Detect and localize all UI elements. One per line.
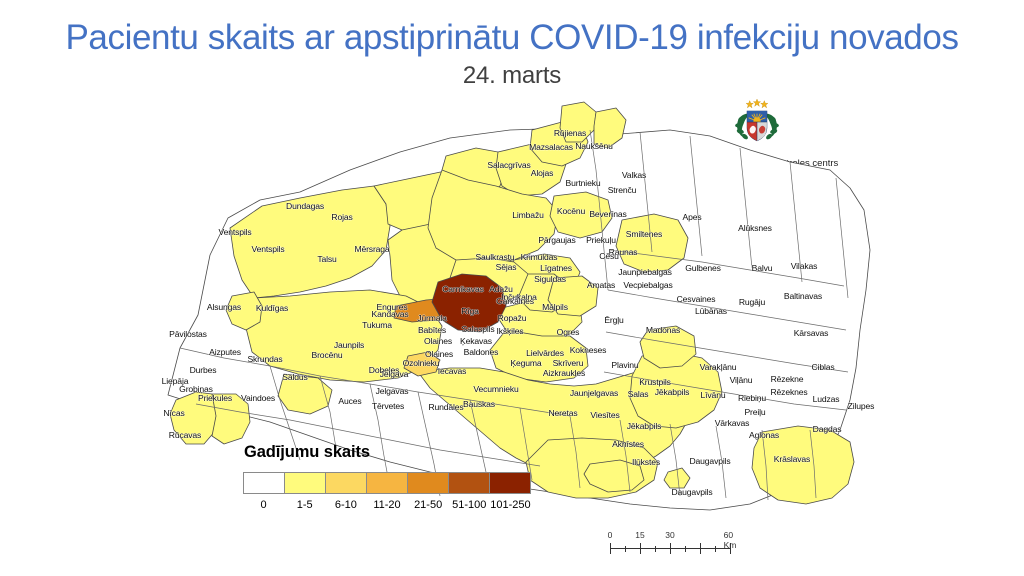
map-label: Smiltenes bbox=[626, 229, 662, 239]
map-label: Ērgļu bbox=[604, 315, 623, 325]
map-label: Jēkabpils bbox=[655, 387, 689, 397]
map-label: Baldones bbox=[464, 347, 499, 357]
map-label: Rīga bbox=[461, 306, 479, 316]
map-label: Ropažu bbox=[498, 313, 527, 323]
map-label: Iecavas bbox=[438, 366, 467, 376]
page-subtitle: 24. marts bbox=[0, 62, 1024, 90]
map-label: Tukuma bbox=[362, 320, 392, 330]
map-label: Cesvaines bbox=[677, 294, 716, 304]
legend: Gadījumu skaits 01-56-1011-2021-5051-100… bbox=[243, 443, 531, 511]
map-label: Viesītes bbox=[590, 410, 619, 420]
map-label: Ogres bbox=[557, 327, 580, 337]
map-label: Vecpiebalgas bbox=[623, 280, 672, 290]
map-label: Neretas bbox=[548, 408, 577, 418]
map-label: Zilupes bbox=[848, 401, 875, 411]
map-label: Vārkavas bbox=[715, 418, 750, 428]
map-label: Ludzas bbox=[813, 394, 840, 404]
scale-bar-numbers: 0153060 Km bbox=[610, 530, 740, 542]
map-label: Dagdas bbox=[813, 424, 842, 434]
map-label: Priekuļu bbox=[586, 235, 616, 245]
map-label: Rundāles bbox=[428, 402, 463, 412]
map-label: Bauskas bbox=[463, 399, 495, 409]
map-label: Skrundas bbox=[247, 354, 282, 364]
map-label: Aizkraukles bbox=[543, 368, 585, 378]
scale-bar-ticks bbox=[610, 543, 740, 554]
map-label: Brocēnu bbox=[312, 350, 343, 360]
map-label: Mērsraga bbox=[354, 244, 389, 254]
map-label: Ilūkstes bbox=[632, 457, 660, 467]
slide-root: Pacientu skaits ar apstiprinātu COVID-19… bbox=[0, 0, 1024, 576]
map-label: Jelgava bbox=[380, 369, 409, 379]
map-label: Durbes bbox=[190, 365, 217, 375]
map-label: Jaunpiebalgas bbox=[618, 267, 671, 277]
map-label: Talsu bbox=[317, 254, 336, 264]
map-label: Kokneses bbox=[570, 345, 607, 355]
map-label: Garkalnes bbox=[496, 296, 534, 306]
map-label: Carnikavas bbox=[442, 284, 484, 294]
scale-bar: 0153060 Km bbox=[610, 530, 740, 554]
legend-swatches bbox=[243, 472, 531, 494]
map-label: Burtnieku bbox=[566, 178, 601, 188]
map-label: Tērvetes bbox=[372, 401, 404, 411]
map-label: Skrīveru bbox=[553, 358, 584, 368]
map-label: Vecumnieku bbox=[473, 384, 518, 394]
map-label: Daugavpils bbox=[671, 487, 712, 497]
map-label: Ventspils bbox=[218, 227, 251, 237]
map-label: Līvānu bbox=[701, 390, 726, 400]
map-label: Mazsalacas bbox=[529, 142, 573, 152]
map-label: Rugāju bbox=[739, 297, 765, 307]
map-label: Ikšķiles bbox=[497, 326, 524, 336]
scale-tick-0: 0 bbox=[608, 530, 613, 540]
map-label: Gulbenes bbox=[685, 263, 721, 273]
map-label: Pāvilostas bbox=[169, 329, 207, 339]
map-label: Lūbānas bbox=[695, 306, 727, 316]
map-label: Jelgavas bbox=[376, 386, 409, 396]
map-label: Valkas bbox=[622, 170, 646, 180]
map-label: Baltinavas bbox=[784, 291, 822, 301]
map-label: Engures bbox=[377, 302, 408, 312]
map-label: Vilakas bbox=[791, 261, 818, 271]
legend-swatch-11-20 bbox=[367, 473, 408, 493]
map-label: Plavinu bbox=[611, 360, 638, 370]
legend-swatch-51-100 bbox=[449, 473, 490, 493]
scale-tick-1: 15 bbox=[635, 530, 644, 540]
map-label: Daugavpils bbox=[689, 456, 730, 466]
map-label: Ventspils bbox=[251, 244, 284, 254]
map-label: Saulkrastu bbox=[475, 252, 514, 262]
map-label: Krustpils bbox=[639, 377, 671, 387]
map-label: Amatas bbox=[587, 280, 615, 290]
legend-swatch-101-250 bbox=[490, 473, 530, 493]
map-label: Alsungas bbox=[207, 302, 241, 312]
map-label: Kuldīgas bbox=[256, 303, 288, 313]
map-label: Kocēnu bbox=[557, 206, 585, 216]
map-label: Balvu bbox=[752, 263, 773, 273]
map-label: Jaunpils bbox=[334, 340, 364, 350]
map-label: Ciblas bbox=[812, 362, 835, 372]
map-label: Babītes bbox=[418, 325, 446, 335]
map-label: Jūrmala bbox=[417, 313, 447, 323]
map-label: Mālpils bbox=[542, 302, 568, 312]
map-label: Naukšēnu bbox=[575, 141, 613, 151]
map-label: Strenču bbox=[608, 185, 637, 195]
map-label: Apes bbox=[683, 212, 702, 222]
legend-label-1-5: 1-5 bbox=[284, 499, 325, 511]
map-label: Krimuldas bbox=[521, 252, 558, 262]
map-label: Riebiņu bbox=[738, 393, 766, 403]
map-label: Ķekavas bbox=[460, 336, 492, 346]
map-label: Nīcas bbox=[163, 408, 184, 418]
map-label: Limbažu bbox=[512, 210, 543, 220]
map-label: Alūksnes bbox=[738, 223, 772, 233]
legend-label-11-20: 11-20 bbox=[366, 499, 407, 511]
map-label: Rēzekne bbox=[771, 374, 804, 384]
map-label: Rūjienas bbox=[554, 128, 586, 138]
map-label: Salaspils bbox=[461, 324, 494, 334]
map-label: Beverīnas bbox=[589, 209, 626, 219]
map-label: Salacgrīvas bbox=[487, 160, 530, 170]
map-label: Lielvārdes bbox=[526, 348, 564, 358]
legend-label-6-10: 6-10 bbox=[325, 499, 366, 511]
map-label: Rēzeknes bbox=[770, 387, 807, 397]
map-label: Pārgaujas bbox=[538, 235, 575, 245]
map-label: Ķeguma bbox=[510, 358, 541, 368]
map-label: Jaunjelgavas bbox=[570, 388, 618, 398]
map-label: Saldus bbox=[282, 372, 307, 382]
map-label: Aglonas bbox=[749, 430, 779, 440]
map-label: Auces bbox=[338, 396, 361, 406]
map-label: Sējas bbox=[496, 262, 517, 272]
map-label: Jēkabpils bbox=[627, 421, 661, 431]
legend-swatch-1-5 bbox=[285, 473, 326, 493]
legend-label-21-50: 21-50 bbox=[408, 499, 449, 511]
map-label: Krāslavas bbox=[774, 454, 810, 464]
page-title: Pacientu skaits ar apstiprinātu COVID-19… bbox=[0, 17, 1024, 59]
map-label: Aknīstes bbox=[612, 439, 644, 449]
legend-swatch-0 bbox=[244, 473, 285, 493]
legend-label-51-100: 51-100 bbox=[449, 499, 490, 511]
map-label: Viļānu bbox=[730, 375, 753, 385]
map-label: Aizputes bbox=[209, 347, 241, 357]
legend-swatch-6-10 bbox=[326, 473, 367, 493]
map-label: Alojas bbox=[531, 168, 554, 178]
map-label: Priekules bbox=[198, 393, 232, 403]
map-label: Salas bbox=[628, 389, 649, 399]
map-label: Rojas bbox=[331, 212, 352, 222]
map-label: Cēsu bbox=[599, 251, 618, 261]
map-label: Kārsavas bbox=[794, 328, 829, 338]
scale-tick-2: 30 bbox=[665, 530, 674, 540]
map-label: Varakļānu bbox=[700, 362, 737, 372]
map-label: Olaines bbox=[424, 336, 452, 346]
legend-swatch-21-50 bbox=[408, 473, 449, 493]
map-label: Vaindoes bbox=[241, 393, 275, 403]
legend-labels: 01-56-1011-2021-5051-100101-250 bbox=[243, 499, 531, 511]
map-label: Rūcavas bbox=[169, 430, 201, 440]
legend-title: Gadījumu skaits bbox=[244, 443, 531, 462]
legend-label-0: 0 bbox=[243, 499, 284, 511]
map-label: Ozolnieku bbox=[403, 358, 440, 368]
map-label: Dundagas bbox=[286, 201, 324, 211]
map-label: Preiļu bbox=[744, 407, 765, 417]
map-label: Madonas bbox=[646, 325, 680, 335]
map-label: Līgatnes bbox=[540, 263, 572, 273]
legend-label-101-250: 101-250 bbox=[490, 499, 531, 511]
map-label: Siguldas bbox=[534, 274, 566, 284]
